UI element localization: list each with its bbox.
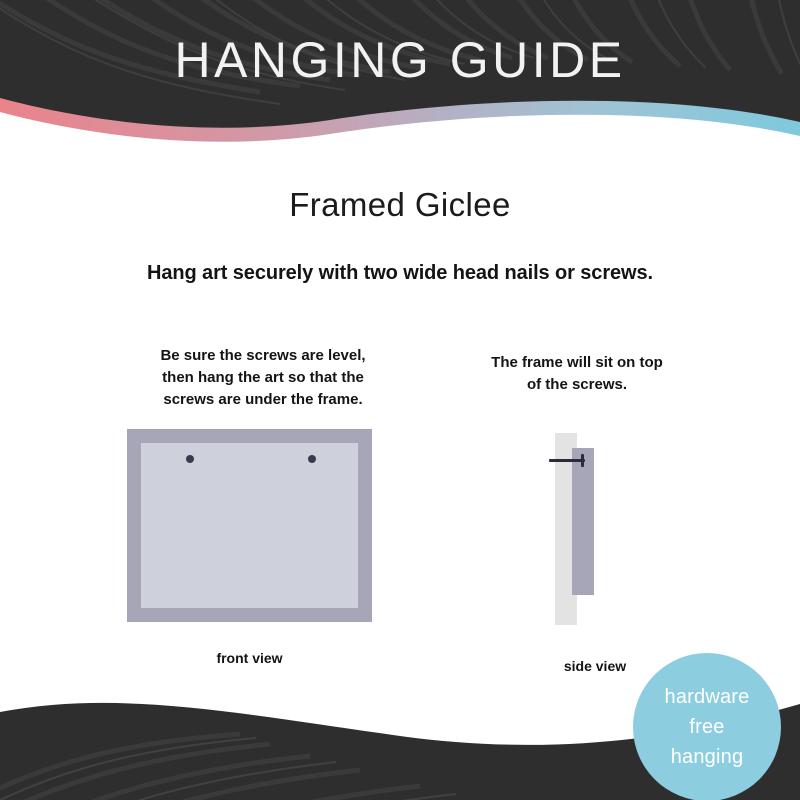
product-title: Framed Giclee (0, 186, 800, 224)
front-view-instruction-line-2: then hang the art so that the (118, 367, 408, 389)
front-view-instruction-line-1: Be sure the screws are level, (118, 345, 408, 367)
nail-head-icon (581, 454, 584, 467)
screw-dot-left-icon (186, 455, 194, 463)
nail-shaft-icon (549, 459, 585, 462)
side-view-instructions: The frame will sit on top of the screws. (462, 352, 692, 396)
side-view-instruction-line-2: of the screws. (462, 374, 692, 396)
hanging-guide-page: HANGING GUIDE Framed Giclee Hang art sec… (0, 0, 800, 800)
badge-line-1: hardware (665, 682, 750, 712)
side-view-frame (572, 448, 594, 595)
screw-dot-right-icon (308, 455, 316, 463)
side-view-diagram (540, 425, 680, 630)
front-view-instructions: Be sure the screws are level, then hang … (118, 345, 408, 411)
front-view-caption: front view (127, 650, 372, 666)
front-view-diagram (127, 429, 372, 622)
badge-line-2: free (665, 712, 750, 742)
side-view-instruction-line-1: The frame will sit on top (462, 352, 692, 374)
badge-line-3: hanging (665, 742, 750, 772)
page-title: HANGING GUIDE (0, 30, 800, 90)
front-view-instruction-line-3: screws are under the frame. (118, 389, 408, 411)
badge-text: hardware free hanging (665, 682, 750, 772)
hardware-free-hanging-badge: hardware free hanging (633, 653, 781, 800)
lead-instruction: Hang art securely with two wide head nai… (0, 262, 800, 285)
header-banner: HANGING GUIDE (0, 0, 800, 160)
front-view-mat (141, 443, 358, 608)
